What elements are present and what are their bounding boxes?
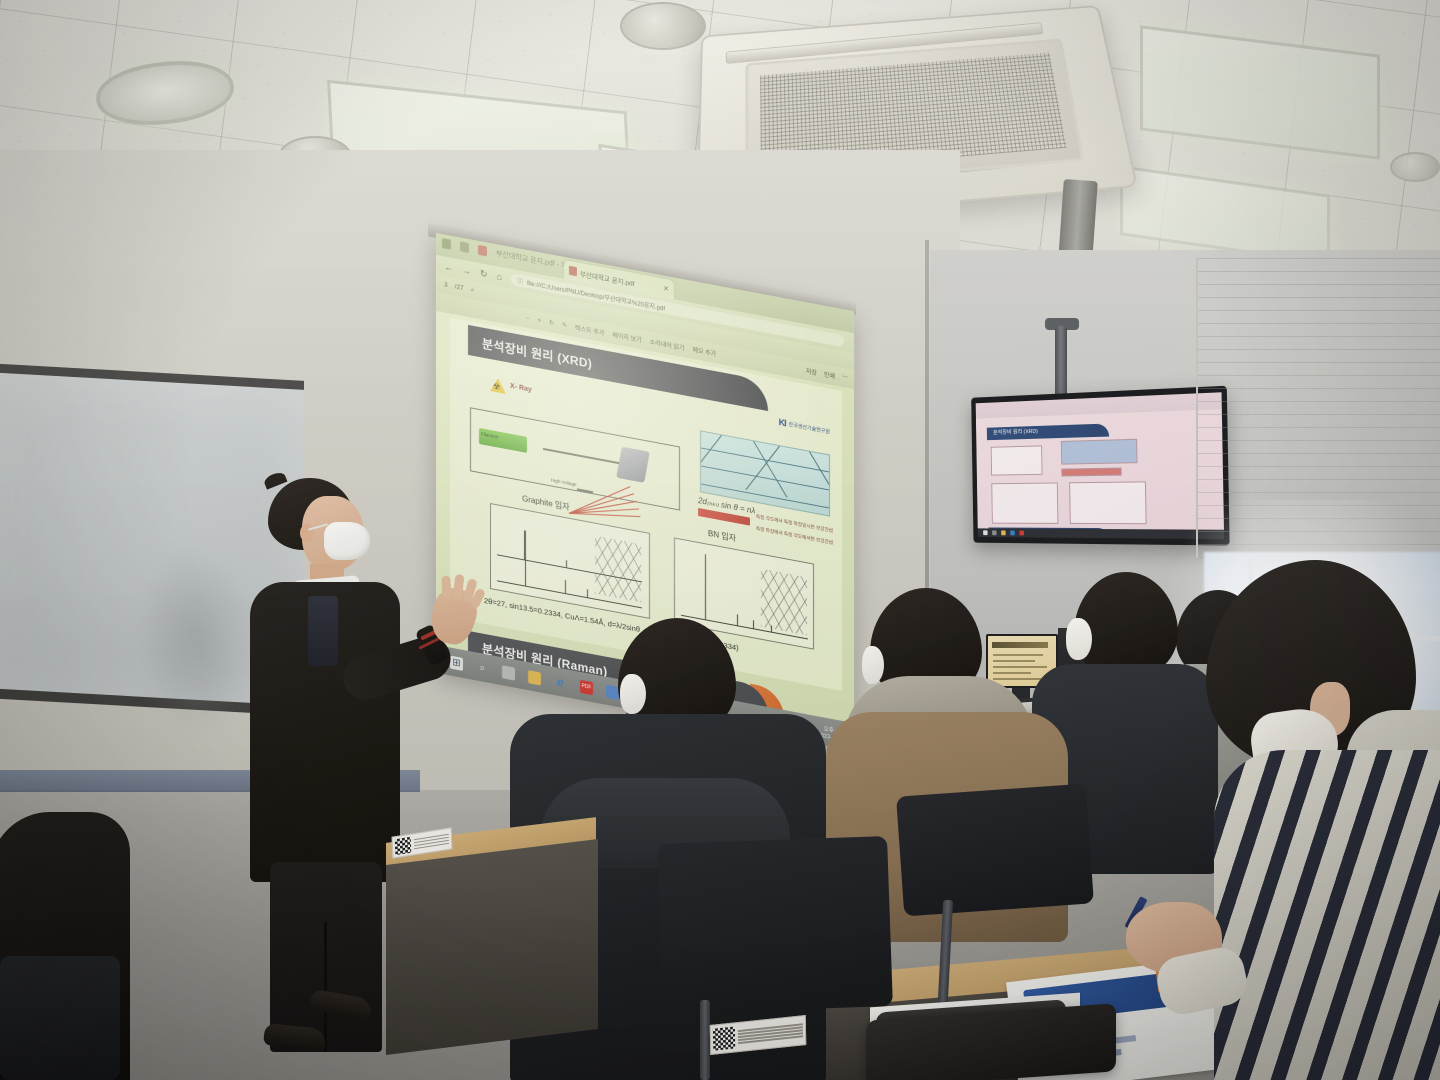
tv-diagram-tube — [991, 445, 1043, 475]
search-icon — [992, 530, 997, 535]
tag-lines — [738, 1023, 803, 1044]
leg-seam — [324, 922, 327, 1052]
tv-slide-title: 분석장비 원리 (XRD) — [987, 423, 1109, 440]
face-mask — [324, 522, 370, 560]
face-mask — [620, 674, 646, 714]
tv-screen: 분석장비 원리 (XRD) 분석장비 원리 (Raman) — [976, 392, 1224, 539]
attendee-head — [1074, 572, 1178, 678]
attendee-torso — [1214, 750, 1440, 1080]
ceiling-speaker-icon — [1390, 152, 1440, 182]
ceiling-speaker-icon — [620, 2, 706, 50]
wall-tv: 분석장비 원리 (XRD) 분석장비 원리 (Raman) — [971, 386, 1229, 546]
tv-equation-highlight — [1061, 468, 1121, 477]
qr-code — [395, 837, 412, 855]
chair[interactable] — [0, 956, 120, 1080]
attendee-striped — [1192, 560, 1440, 1080]
tv-mount-post — [1055, 326, 1067, 396]
tv-slide-title-band: 분석장비 원리 (XRD) — [987, 423, 1109, 440]
whiteboard-smudge — [136, 540, 256, 737]
start-button — [983, 530, 988, 535]
tag-lines — [414, 833, 449, 849]
pdf-icon — [1019, 531, 1024, 536]
tv-plot-right — [1069, 481, 1147, 524]
sweater-stripes — [1214, 750, 1440, 1080]
chair[interactable] — [657, 836, 893, 1014]
file-explorer-icon — [1001, 530, 1006, 535]
tv-diagram-bragg — [1061, 439, 1138, 465]
presenter-shirt — [308, 596, 338, 666]
window-blind[interactable] — [1196, 258, 1440, 558]
edge-icon — [1010, 530, 1015, 535]
chair[interactable] — [896, 784, 1094, 917]
face-mask — [862, 646, 884, 684]
tv-plot-left — [991, 482, 1058, 523]
tv-browser-toolbar — [976, 392, 1222, 418]
desk-front-panel — [386, 839, 598, 1055]
classroom-scene: 부산대학교 윤지.pdf - 개인 부산대학교 윤지.pdf ✕ ← → ↻ ⌂… — [0, 0, 1440, 1080]
tv-taskbar — [978, 528, 1224, 539]
qr-code — [713, 1026, 735, 1050]
chair-post — [700, 1000, 710, 1080]
presenter-legs — [270, 862, 382, 1052]
